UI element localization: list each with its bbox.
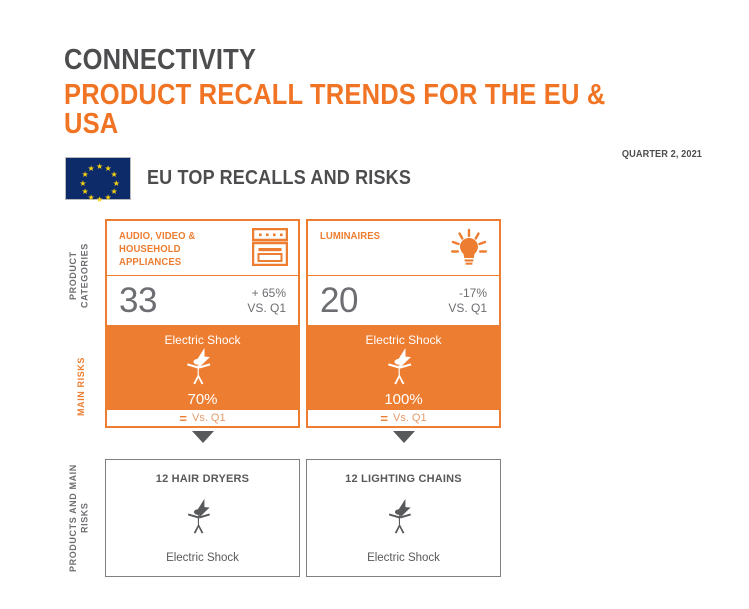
card-header: LUMINAIRES xyxy=(306,219,501,276)
delta-reference: VS. Q1 xyxy=(448,301,487,316)
section-header: ★ ★ ★ ★ ★ ★ ★ ★ ★ ★ ★ ★ EU TOP RECALLS A… xyxy=(65,157,440,200)
header: CONNECTIVITY PRODUCT RECALL TRENDS FOR T… xyxy=(64,46,704,160)
page-title-secondary: PRODUCT RECALL TRENDS FOR THE EU & USA xyxy=(64,81,627,140)
down-arrow-icon xyxy=(192,431,214,443)
electric-shock-icon xyxy=(385,497,423,540)
trend-footer: = Vs. Q1 xyxy=(306,408,501,428)
product-boxes: 12 HAIR DRYERS Electric Shock 12 xyxy=(105,459,501,577)
axis-label-main-risks: MAIN RISKS xyxy=(76,334,90,439)
down-arrow-icon xyxy=(393,431,415,443)
card-header: AUDIO, VIDEO & HOUSEHOLD APPLIANCES xyxy=(105,219,300,276)
section-title: EU TOP RECALLS AND RISKS xyxy=(147,167,411,190)
page-title-primary: CONNECTIVITY xyxy=(64,46,627,76)
axis-label-product-categories: PRODUCT CATEGORIES xyxy=(68,219,94,332)
trend-reference: Vs. Q1 xyxy=(393,413,427,424)
card-count-row: 33 + 65% VS. Q1 xyxy=(105,276,300,326)
main-risk-block: Electric Shock 70% xyxy=(105,326,300,408)
category-card[interactable]: AUDIO, VIDEO & HOUSEHOLD APPLIANCES xyxy=(105,219,300,443)
eu-flag-icon: ★ ★ ★ ★ ★ ★ ★ ★ ★ ★ ★ ★ xyxy=(65,157,131,200)
delta-value: -17% xyxy=(448,286,487,301)
trend-footer: = Vs. Q1 xyxy=(105,408,300,428)
trend-reference: Vs. Q1 xyxy=(192,413,226,424)
product-box[interactable]: 12 HAIR DRYERS Electric Shock xyxy=(105,459,300,577)
category-name: AUDIO, VIDEO & HOUSEHOLD APPLIANCES xyxy=(119,230,231,270)
product-box[interactable]: 12 LIGHTING CHAINS Electric Shock xyxy=(306,459,501,577)
product-risk: Electric Shock xyxy=(166,552,239,564)
risk-name: Electric Shock xyxy=(365,333,441,347)
product-risk: Electric Shock xyxy=(367,552,440,564)
recall-count: 33 xyxy=(119,283,157,318)
category-card[interactable]: LUMINAIRES xyxy=(306,219,501,443)
risk-percentage: 100% xyxy=(384,392,422,407)
card-count-row: 20 -17% VS. Q1 xyxy=(306,276,501,326)
lightbulb-icon xyxy=(449,228,489,273)
delta-block: -17% VS. Q1 xyxy=(448,286,487,316)
risk-percentage: 70% xyxy=(187,392,217,407)
infographic-page: CONNECTIVITY PRODUCT RECALL TRENDS FOR T… xyxy=(0,0,749,609)
delta-value: + 65% xyxy=(247,286,286,301)
trend-equal-icon: = xyxy=(179,412,187,425)
electric-shock-icon xyxy=(183,347,223,390)
category-name: LUMINAIRES xyxy=(320,230,380,243)
electric-shock-icon xyxy=(184,497,222,540)
trend-equal-icon: = xyxy=(380,412,388,425)
risk-name: Electric Shock xyxy=(164,333,240,347)
main-risk-block: Electric Shock 100% xyxy=(306,326,501,408)
category-cards: AUDIO, VIDEO & HOUSEHOLD APPLIANCES xyxy=(105,219,501,443)
delta-block: + 65% VS. Q1 xyxy=(247,286,286,316)
recall-count: 20 xyxy=(320,283,358,318)
product-title: 12 LIGHTING CHAINS xyxy=(345,473,462,485)
product-title: 12 HAIR DRYERS xyxy=(156,473,249,485)
electric-shock-icon xyxy=(384,347,424,390)
oven-icon xyxy=(252,228,288,271)
delta-reference: VS. Q1 xyxy=(247,301,286,316)
axis-label-products-and-main-risks: PRODUCTS AND MAIN RISKS xyxy=(68,459,94,577)
